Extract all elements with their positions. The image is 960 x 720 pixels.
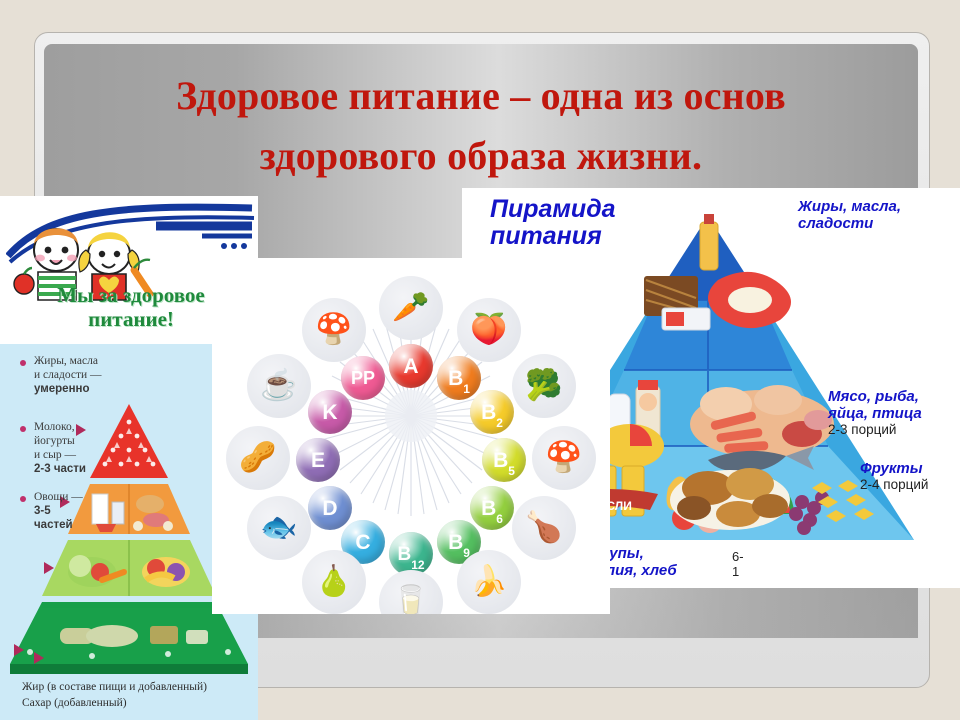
dairy-amount: 2-3 части [34,463,86,475]
chicken-icon: 🍗 [525,513,562,543]
fruits-label-line-1: Фрукты [860,460,923,477]
dairy-line-3: и сыр — [34,449,76,461]
broccoli-icon: 🥦 [525,371,562,401]
food-circle-pear-currant: 🍐 [302,550,366,614]
footnote-fat: Жир (в составе пищи и добавленный) [22,679,207,696]
vitamin-b9-label: B [448,532,463,553]
food-circle-peach-nut: 🍑 [457,298,521,362]
left-pyramid-label-vegetables: Овощи — 3-5 частей [34,490,83,532]
banana-icon: 🍌 [470,567,507,597]
title-line-1: Здоровое питание – одна из основ [44,66,918,126]
vitamin-pp-label: PP [351,369,375,387]
left-pyramid-label-dairy: Молоко, йогурты и сыр — 2-3 части [34,420,86,476]
vitamin-b5-label: B [493,450,508,471]
food-circle-fish-cheese: 🐟 [247,496,311,560]
fats-amount: умеренно [34,383,89,395]
peanut-icon: 🥜 [239,443,276,473]
label-fats-oils-sweets: Жиры, масла, сладости [798,198,901,232]
bullet-dot-vegetables [20,496,26,502]
vitamin-bubble-b1[interactable]: B1 [437,356,481,400]
footnote-sugar: Сахар (добавленный) [22,695,207,712]
right-pyramid-title-line-2: питания [490,223,616,250]
veg-line-1: Овощи — [34,491,83,503]
food-circle-beet-mushroom: 🍄 [532,426,596,490]
mushrooms-icon: 🍄 [315,315,352,345]
vitamin-b1-sub: 1 [463,383,470,395]
vitamin-e-label: E [311,450,325,471]
vitamin-d-label: D [322,498,337,519]
food-circle-mushrooms: 🍄 [302,298,366,362]
bullet-dot-dairy [20,426,26,432]
grains-servings: 6-1 [732,550,744,579]
fats-line-1: Жиры, масла [34,355,98,367]
food-circle-milk-egg: 🥛 [379,570,443,614]
vitamin-bubble-k[interactable]: K [308,390,352,434]
vitamin-bubble-pp[interactable]: PP [341,356,385,400]
food-circle-tea-cup: ☕ [247,354,311,418]
meat-label-line-1: Мясо, рыба, [828,388,919,405]
carrot-icon: 🥕 [392,293,429,323]
veg-amount-1: 3-5 [34,505,51,517]
dairy-line-1: Молоко, [34,421,75,433]
vitamin-bubble-d[interactable]: D [308,486,352,530]
fish-icon: 🐟 [260,513,297,543]
fats-label-line-2: сладости [798,215,873,232]
food-circle-orange-carrot: 🥕 [379,276,443,340]
page-title: Здоровое питание – одна из основ здорово… [44,66,918,186]
label-meat-fish-eggs-poultry: Мясо, рыба, яйца, птица 2-3 порций [828,388,922,438]
fruits-servings: 2-4 порций [860,477,928,492]
right-pyramid-title: Пирамида питания [490,196,616,250]
vitamin-c-label: C [355,532,370,553]
vitamin-k-label: K [322,402,337,423]
vitamin-b2-sub: 2 [496,417,503,429]
vitamin-b6-sub: 6 [496,513,503,525]
vitamin-b2-label: B [481,402,496,423]
veg-amount-2: частей [34,519,73,531]
fats-line-2: и сладости — [34,369,102,381]
vitamin-wheel-image: A B1 B2 B5 B6 B9 B12 C D E K PP 🥕 🍑 🥦 🍄 … [212,258,610,614]
vitamin-b1-label: B [448,368,463,389]
tea-cup-icon: ☕ [260,371,297,401]
vitamin-b6-label: B [481,498,496,519]
bullet-dot-fats [20,360,26,366]
food-circle-chicken-strawberry: 🍗 [512,496,576,560]
vitamin-bubble-b5[interactable]: B5 [482,438,526,482]
vitamin-bubble-b6[interactable]: B6 [470,486,514,530]
vitamin-b12-label: B [397,545,411,564]
pear-icon: 🍐 [315,567,352,597]
peach-icon: 🍑 [470,315,507,345]
left-pyramid-footnotes: Жир (в составе пищи и добавленный) Сахар… [22,679,207,712]
vitamin-bubble-e[interactable]: E [296,438,340,482]
food-circle-peas-peanut: 🥜 [226,426,290,490]
meat-servings: 2-3 порций [828,422,922,437]
dairy-line-2: йогурты [34,435,75,447]
vitamin-b5-sub: 5 [508,465,515,477]
food-circle-broccoli-egg: 🥦 [512,354,576,418]
slide: Здоровое питание – одна из основ здорово… [0,0,960,720]
food-circle-banana-onion: 🍌 [457,550,521,614]
fats-label-line-1: Жиры, масла, [798,198,901,215]
label-fruits: Фрукты 2-4 порций [860,460,928,492]
vitamin-bubble-b2[interactable]: B2 [470,390,514,434]
title-line-2: здорового образа жизни. [44,126,918,186]
meat-label-line-2: яйца, птица [828,405,922,422]
milk-glass-icon: 🥛 [392,587,429,614]
right-pyramid-title-line-1: Пирамида [490,196,616,223]
mushroom-beet-icon: 🍄 [545,443,582,473]
vitamin-bubble-a[interactable]: A [389,344,433,388]
vitamin-a-label: A [403,356,418,377]
left-pyramid-label-fats: Жиры, масла и сладости — умеренно [34,354,102,396]
